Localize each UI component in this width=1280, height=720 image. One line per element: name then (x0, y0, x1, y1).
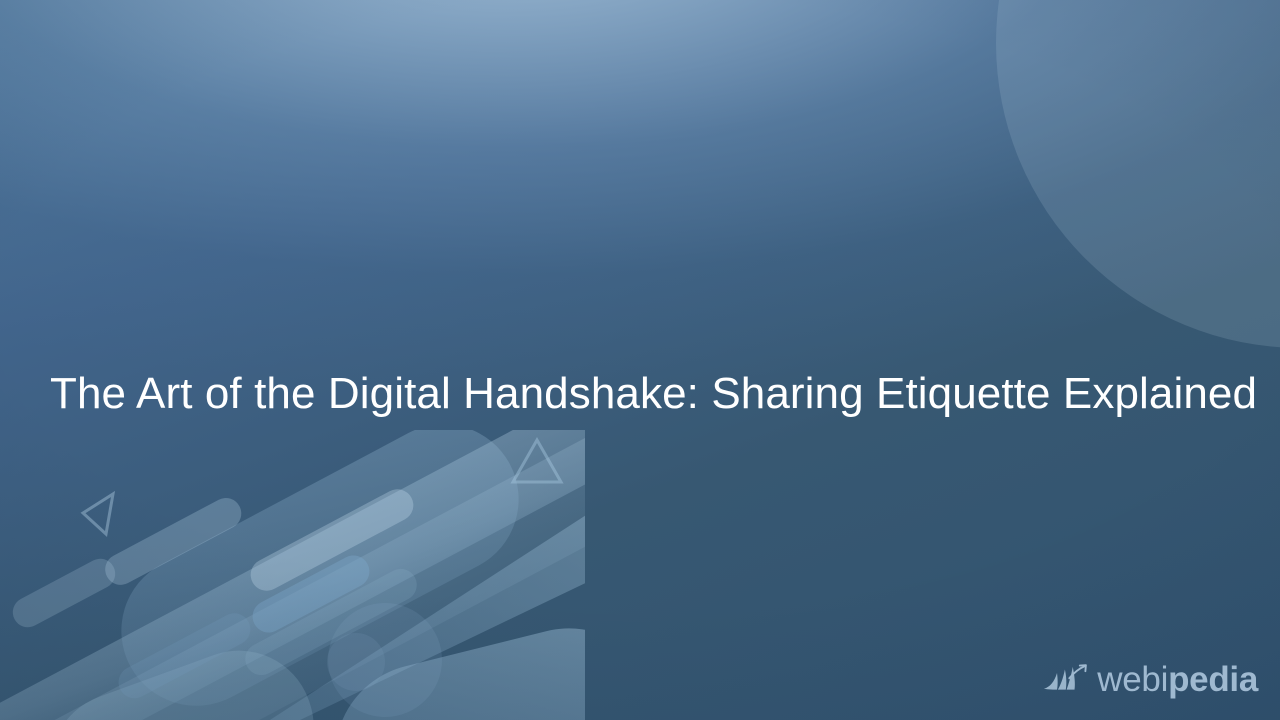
slide-title: The Art of the Digital Handshake: Sharin… (50, 366, 1240, 422)
brand-logo-text: webipedia (1097, 660, 1258, 700)
brand-logo: webipedia (1043, 655, 1258, 705)
background-vignette (0, 0, 1280, 720)
brand-logo-text-bold: pedia (1168, 660, 1258, 699)
brand-logo-text-light: webi (1097, 660, 1168, 699)
webipedia-logo-icon (1043, 660, 1090, 700)
presentation-slide: The Art of the Digital Handshake: Sharin… (0, 0, 1280, 720)
